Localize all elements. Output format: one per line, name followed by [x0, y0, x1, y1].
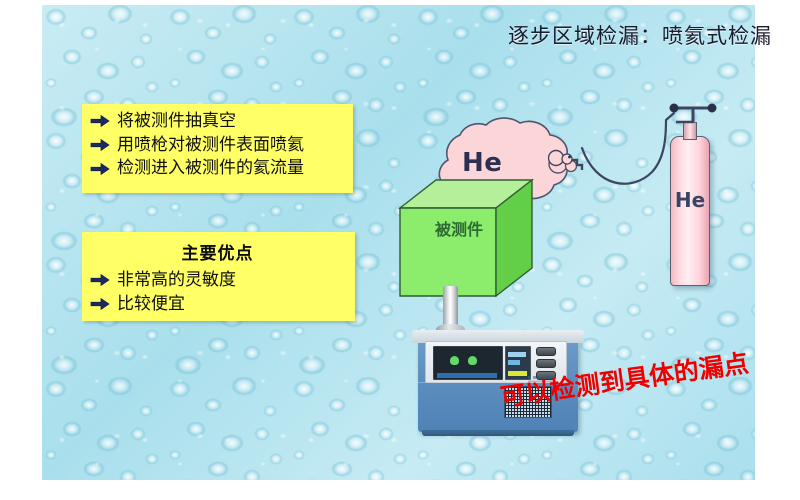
list-item: 非常高的灵敏度 — [90, 269, 345, 292]
steps-list: 将被测件抽真空 用喷枪对被测件表面喷氦 检测进入被测件的氦流量 — [90, 110, 343, 180]
list-item-label: 比较便宜 — [117, 293, 185, 316]
machine-base — [422, 430, 574, 436]
steps-callout-box: 将被测件抽真空 用喷枪对被测件表面喷氦 检测进入被测件的氦流量 — [82, 104, 353, 193]
list-item: 将被测件抽真空 — [90, 110, 343, 133]
list-item-label: 非常高的灵敏度 — [117, 269, 236, 292]
arrow-right-icon — [90, 273, 110, 287]
list-item-label: 将被测件抽真空 — [117, 110, 236, 133]
slide-canvas: 逐步区域检漏：喷氦式检漏 将被测件抽真空 用喷枪对被测件表面喷氦 — [0, 0, 800, 500]
list-item: 比较便宜 — [90, 293, 345, 316]
machine-button-2[interactable] — [536, 359, 556, 368]
advantages-list: 非常高的灵敏度 比较便宜 — [90, 269, 345, 315]
arrow-right-icon — [90, 162, 110, 176]
list-item: 检测进入被测件的氦流量 — [90, 157, 343, 180]
arrow-right-icon — [90, 138, 110, 152]
advantages-title: 主要优点 — [90, 239, 345, 264]
machine-button-1[interactable] — [536, 347, 556, 356]
cloud-helium-label: He — [462, 148, 502, 178]
arrow-right-icon — [90, 297, 110, 311]
advantages-callout-box: 主要优点 非常高的灵敏度 比较便宜 — [82, 232, 355, 321]
cylinder-helium-label: He — [670, 188, 710, 212]
arrow-right-icon — [90, 114, 110, 128]
helium-hose — [570, 110, 700, 190]
machine-display-screen — [433, 346, 503, 380]
list-item-label: 检测进入被测件的氦流量 — [117, 157, 304, 180]
page-title: 逐步区域检漏：喷氦式检漏 — [508, 20, 772, 50]
cube-label: 被测件 — [428, 220, 490, 240]
list-item-label: 用喷枪对被测件表面喷氦 — [117, 134, 304, 157]
list-item: 用喷枪对被测件表面喷氦 — [90, 134, 343, 157]
